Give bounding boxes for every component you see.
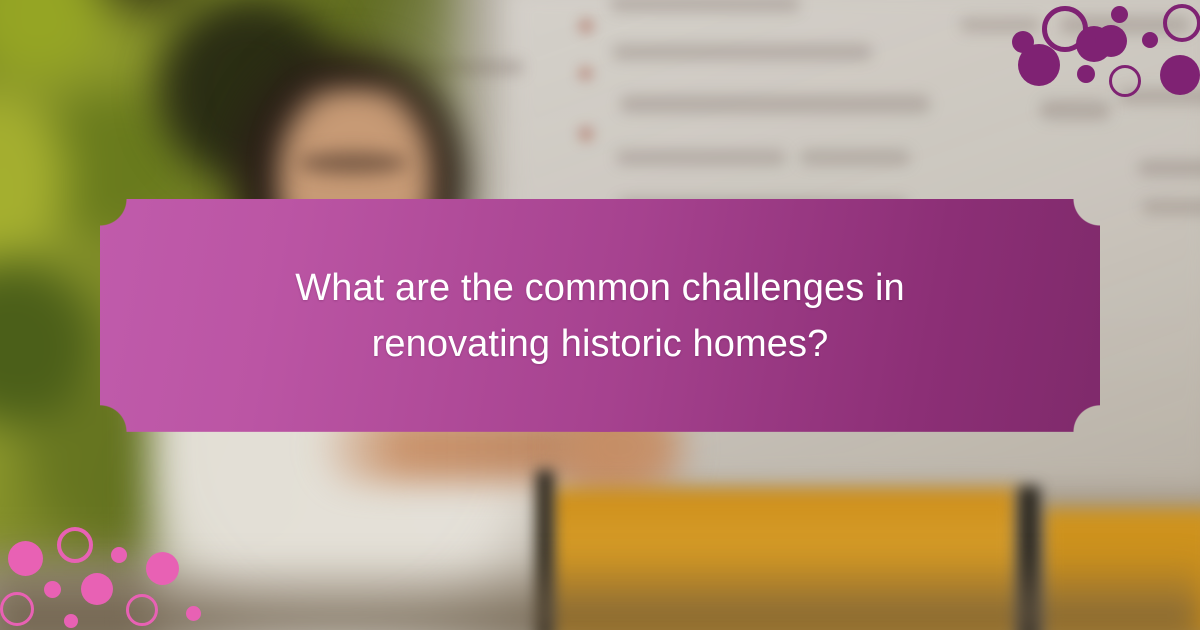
person-brow: [298, 152, 408, 174]
decorative-circle: [44, 581, 61, 598]
question-banner: What are the common challenges in renova…: [100, 199, 1100, 432]
decorative-circle: [1142, 32, 1158, 48]
page-title: What are the common challenges in renova…: [280, 260, 920, 372]
decorative-circle: [111, 547, 127, 563]
floor: [0, 556, 1200, 630]
share-card: What are the common challenges in renova…: [0, 0, 1200, 630]
decorative-circle: [81, 573, 113, 605]
decorative-circle: [126, 594, 158, 626]
decorative-circle: [146, 552, 179, 585]
decorative-circle: [186, 606, 201, 621]
decorative-circle: [0, 592, 34, 626]
decorative-circle: [1018, 44, 1060, 86]
decorative-circle: [1163, 4, 1200, 42]
decorative-circle: [1077, 65, 1095, 83]
decorative-circle: [64, 614, 78, 628]
decorative-circle: [8, 541, 43, 576]
decorative-circle: [1095, 25, 1127, 57]
decorative-circle: [1111, 6, 1128, 23]
decorative-circle: [1160, 55, 1200, 95]
decorative-circle: [57, 527, 93, 563]
decorative-circle: [1109, 65, 1141, 97]
